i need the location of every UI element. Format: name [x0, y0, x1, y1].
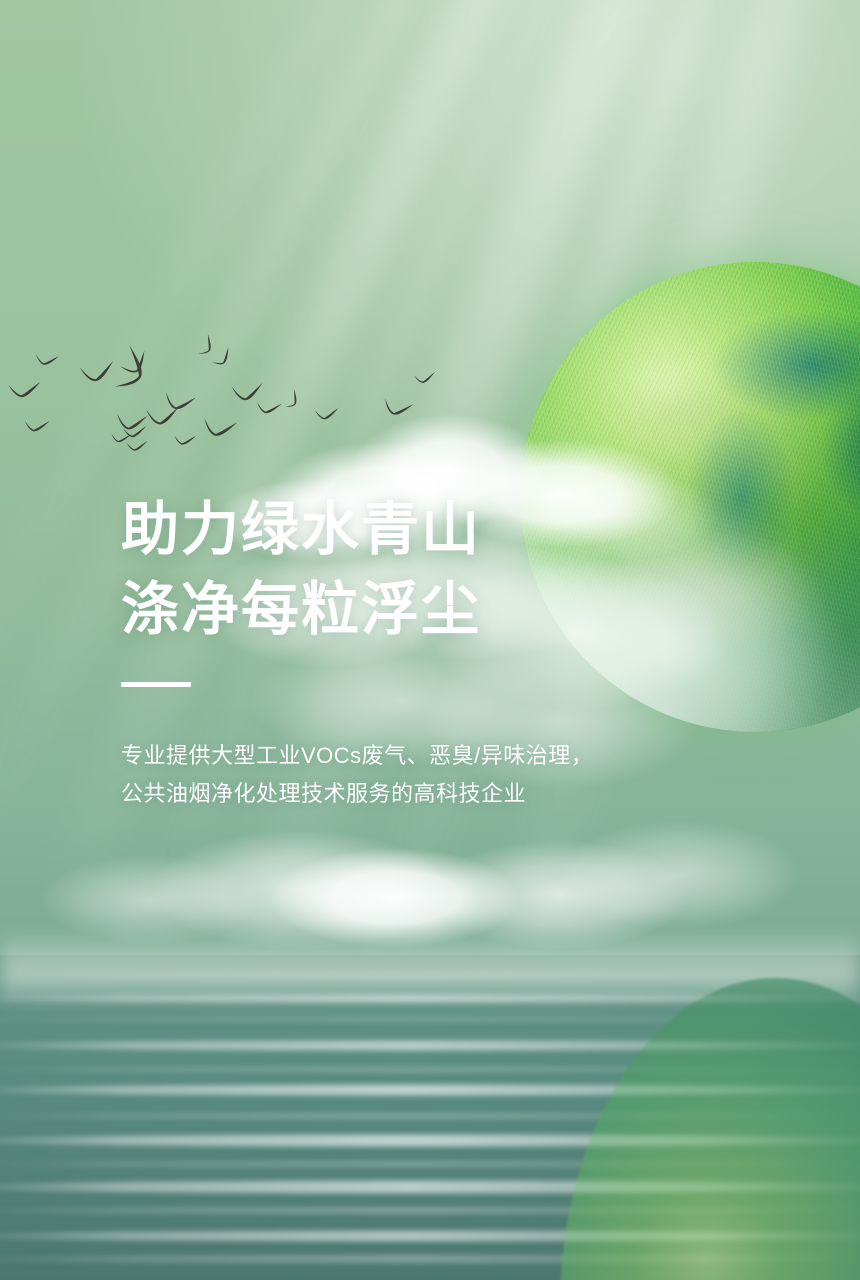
bird-icon [197, 333, 217, 359]
bird-icon [201, 417, 240, 439]
headline-line-1: 助力绿水青山 [121, 490, 761, 570]
bird-icon [413, 371, 437, 385]
bird-icon [255, 401, 283, 416]
bird-icon [115, 413, 149, 431]
headline-line-2: 涤净每粒浮尘 [121, 570, 761, 650]
bird-icon [230, 381, 266, 403]
page-title: 助力绿水青山 涤净每粒浮尘 [121, 490, 761, 650]
subtitle-line-2: 公共油烟净化处理技术服务的高科技企业 [121, 775, 761, 813]
bird-icon [283, 388, 302, 411]
bird-icon [381, 397, 415, 418]
poster-banner: 助力绿水青山 涤净每粒浮尘 专业提供大型工业VOCs废气、恶臭/异味治理， 公共… [0, 0, 860, 1280]
bird-icon [34, 353, 60, 367]
globe-water-reflection [560, 978, 860, 1280]
subtitle-line-1: 专业提供大型工业VOCs废气、恶臭/异味治理， [121, 737, 761, 775]
white-rule [121, 682, 191, 687]
bird-icon [126, 440, 149, 451]
bird-icon [24, 419, 51, 432]
bird-icon [77, 359, 118, 385]
bird-icon [314, 407, 340, 421]
page-subtitle: 专业提供大型工业VOCs废气、恶臭/异味治理， 公共油烟净化处理技术服务的高科技… [121, 737, 761, 813]
bird-icon [7, 381, 42, 399]
bird-icon [210, 346, 235, 370]
cloud-puff [560, 820, 800, 930]
flying-birds-flock [0, 330, 470, 460]
bird-icon [173, 434, 197, 446]
bird-icon [144, 405, 182, 427]
reflection-grass-texture [560, 978, 860, 1280]
poster-copy-block: 助力绿水青山 涤净每粒浮尘 专业提供大型工业VOCs废气、恶臭/异味治理， 公共… [121, 490, 761, 813]
